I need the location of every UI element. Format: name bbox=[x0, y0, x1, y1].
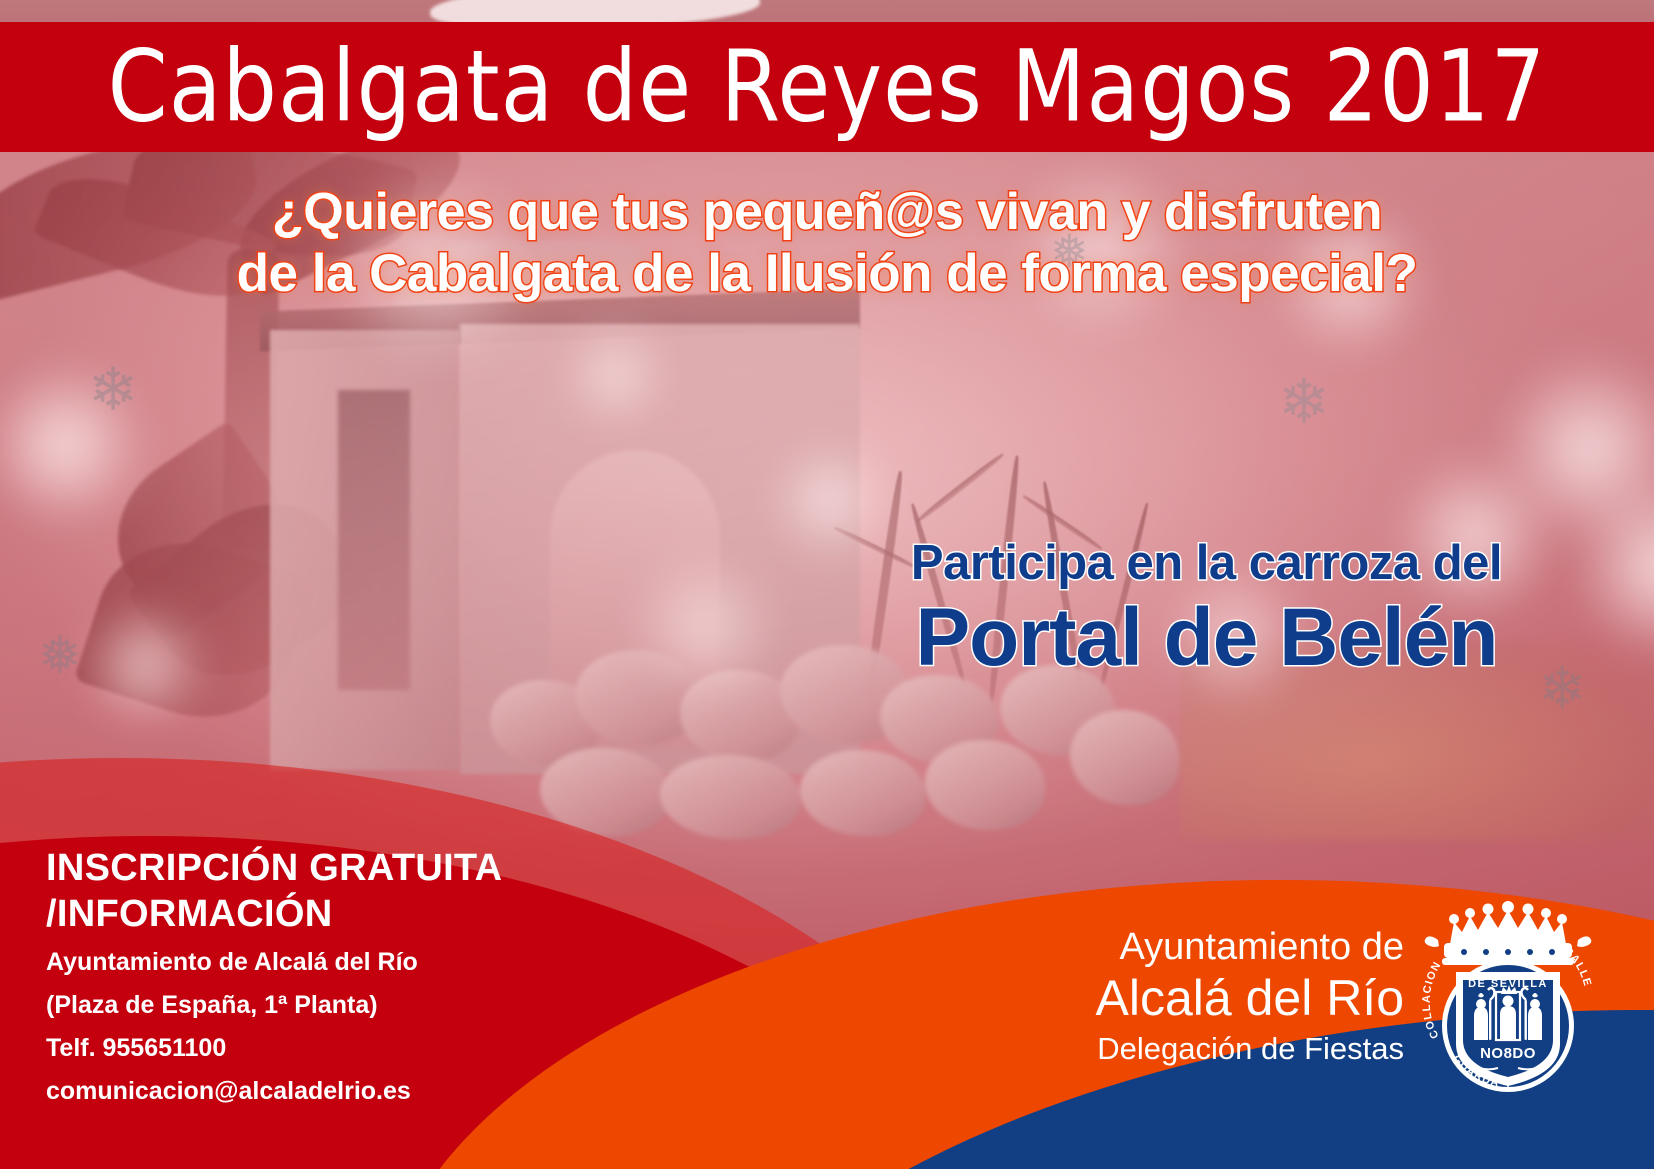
top-decorative-strip bbox=[0, 0, 1654, 24]
info-detail-line-1: Ayuntamiento de Alcalá del Río bbox=[46, 944, 502, 981]
org-line-1: Ayuntamiento de bbox=[1096, 925, 1405, 970]
info-heading-line-1: INSCRIPCIÓN GRATUITA bbox=[46, 845, 502, 891]
subtitle-block: ¿Quieres que tus pequeñ@s vivan y disfru… bbox=[0, 182, 1654, 306]
crest-left-legend: COLLACION bbox=[1421, 959, 1444, 1040]
headline-big-line: Portal de Belén bbox=[911, 593, 1502, 683]
page-title: Cabalgata de Reyes Magos 2017 bbox=[108, 30, 1547, 145]
registration-info-block: INSCRIPCIÓN GRATUITA /INFORMACIÓN Ayunta… bbox=[46, 845, 502, 1110]
crest-right-legend: CALLE bbox=[1561, 945, 1593, 989]
headline-small-line: Participa en la carroza del bbox=[911, 538, 1502, 589]
subtitle-line-1: ¿Quieres que tus pequeñ@s vivan y disfru… bbox=[0, 182, 1654, 243]
title-banner: Cabalgata de Reyes Magos 2017 bbox=[0, 22, 1654, 152]
coat-of-arms-icon: COLLACION CALLE GUARDA Y DE SEVILLA bbox=[1408, 888, 1608, 1100]
organization-block: Ayuntamiento de Alcalá del Río Delegació… bbox=[1096, 925, 1405, 1069]
subtitle-line-2: de la Cabalgata de la Ilusión de forma e… bbox=[0, 243, 1654, 306]
info-heading-line-2: /INFORMACIÓN bbox=[46, 891, 502, 937]
info-email: comunicacion@alcaladelrio.es bbox=[46, 1073, 502, 1110]
ribbon-ornament-icon bbox=[429, 0, 760, 24]
org-line-2: Alcalá del Río bbox=[1096, 970, 1405, 1027]
poster-root: ❄ ❅ ❄ ❅ ❄ Cabalgata de Reyes Magos 2017 … bbox=[0, 0, 1654, 1169]
org-line-3: Delegación de Fiestas bbox=[1096, 1029, 1405, 1069]
info-phone: Telf. 955651100 bbox=[46, 1030, 502, 1067]
crest-motto: NO8DO bbox=[1480, 1045, 1536, 1062]
info-detail-line-2: (Plaza de España, 1ª Planta) bbox=[46, 987, 502, 1024]
headline-block: Participa en la carroza del Portal de Be… bbox=[911, 538, 1502, 684]
